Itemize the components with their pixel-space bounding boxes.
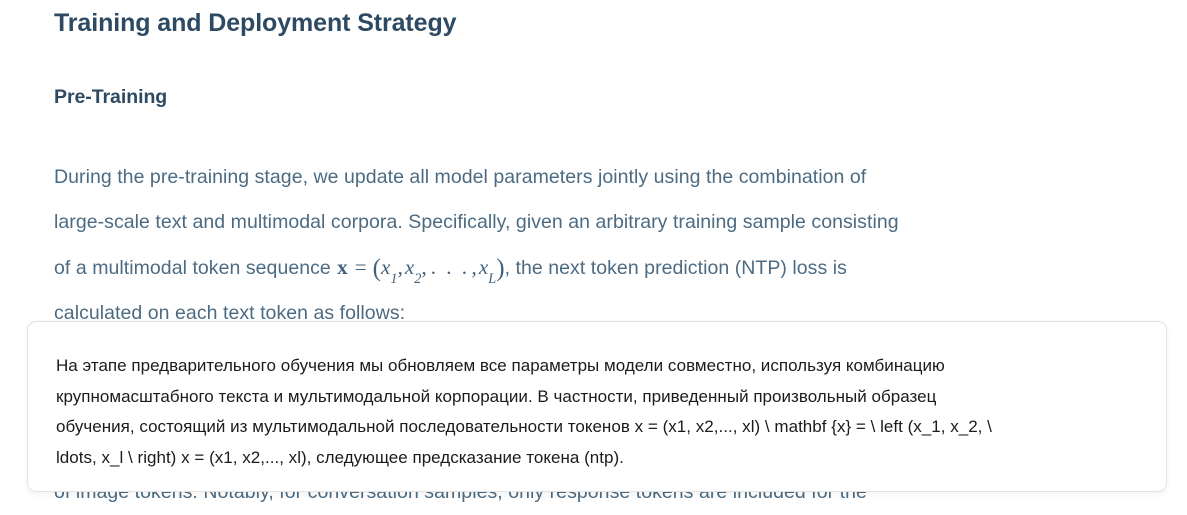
paragraph-line-3-suffix: , the next token prediction (NTP) loss i… (505, 257, 847, 279)
math-bold-x: x (336, 255, 349, 279)
translation-line-4: ldots, x_l \ right) x = (x1, x2,..., xl)… (56, 443, 1131, 474)
math-var3-base: x (479, 255, 488, 279)
math-var1-subscript: 1 (390, 271, 397, 287)
translation-text: На этапе предварительного обучения мы об… (56, 351, 1131, 473)
math-comma-1: , (398, 255, 405, 279)
paragraph-line-1: During the pre-training stage, we update… (54, 155, 1094, 200)
math-var3-subscript: L (488, 271, 496, 287)
math-comma-2: , (421, 255, 428, 279)
translation-popup[interactable]: На этапе предварительного обучения мы об… (27, 321, 1167, 492)
inline-math-token-sequence: x=(x1,x2,. . .,xL) (331, 255, 505, 279)
math-var2-subscript: 2 (414, 271, 421, 287)
paragraph-line-3: of a multimodal token sequence x=(x1,x2,… (54, 245, 1094, 291)
math-close-paren: ) (496, 255, 504, 282)
math-open-paren: ( (373, 255, 381, 282)
paragraph-line-3-prefix: of a multimodal token sequence (54, 257, 331, 279)
math-var-x2: x2 (405, 255, 422, 279)
math-var1-base: x (381, 255, 390, 279)
math-var-x1: x1 (381, 255, 398, 279)
section-heading-pre-training: Pre-Training (54, 84, 167, 110)
translation-line-1: На этапе предварительного обучения мы об… (56, 351, 1131, 382)
math-var2-base: x (405, 255, 414, 279)
translation-line-3: обучения, состоящий из мультимодальной п… (56, 412, 1131, 443)
math-equals: = (349, 255, 373, 279)
translation-line-2: крупномасштабного текста и мультимодальн… (56, 382, 1131, 413)
math-var-xL: xL (479, 255, 496, 279)
paragraph-line-2: large-scale text and multimodal corpora.… (54, 200, 1094, 245)
document-page: Training and Deployment Strategy Pre-Tra… (0, 0, 1187, 514)
math-ellipsis: . . . (429, 255, 472, 279)
math-comma-3: , (472, 255, 479, 279)
page-title: Training and Deployment Strategy (54, 7, 456, 39)
body-paragraph: During the pre-training stage, we update… (54, 155, 1094, 336)
